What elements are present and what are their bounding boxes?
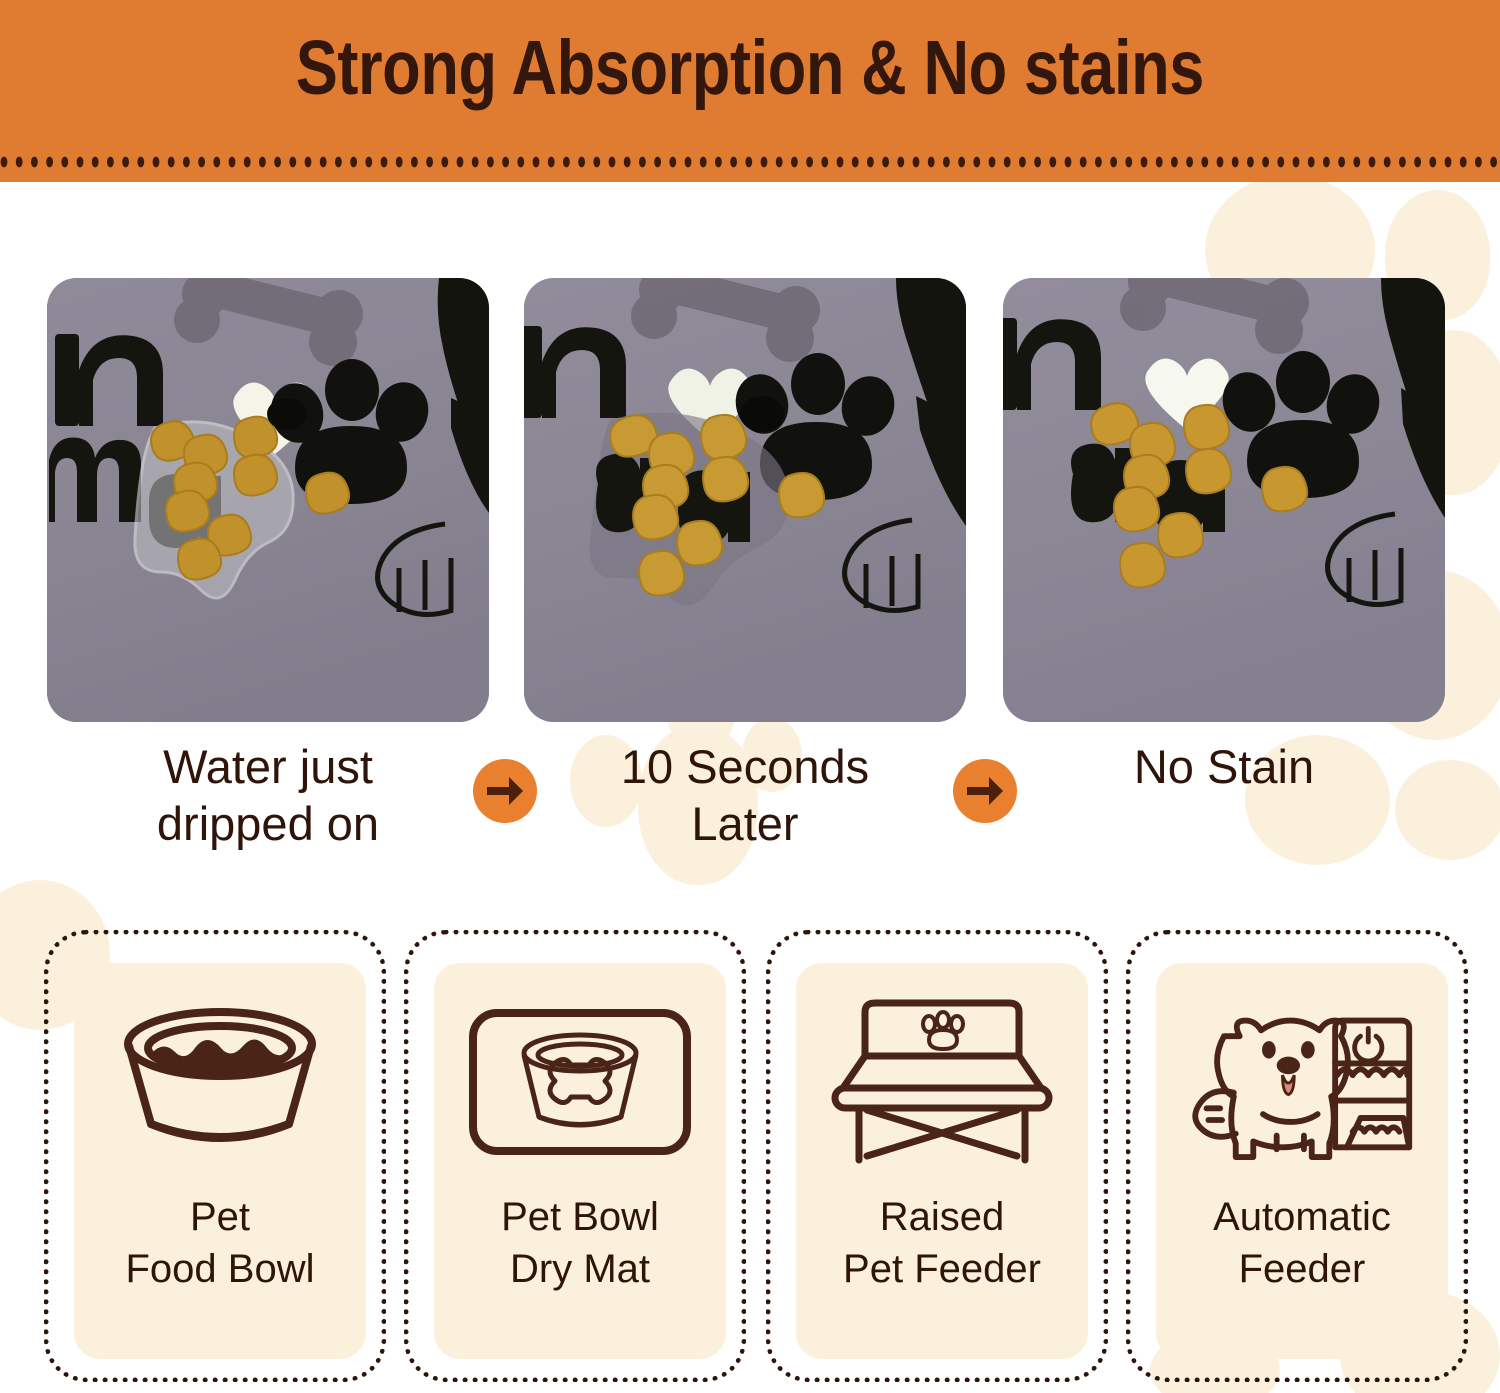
caption-no-stain: No Stain: [1003, 738, 1445, 795]
comparison-photo-no-stain: [1003, 278, 1445, 722]
use-case-card-automatic-feeder[interactable]: Automatic Feeder: [1126, 930, 1468, 1382]
caption-ten-seconds: 10 Seconds Later: [524, 738, 966, 852]
use-case-card-pet-food-bowl[interactable]: Pet Food Bowl: [44, 930, 386, 1382]
card-label: Raised Pet Feeder: [796, 1191, 1088, 1295]
card-label-line-2: Food Bowl: [74, 1243, 366, 1295]
card-inner-panel: Raised Pet Feeder: [796, 963, 1088, 1359]
absorption-comparison-row: [0, 278, 1500, 722]
comparison-captions: Water just dripped on 10 Seconds Later N…: [0, 738, 1500, 868]
use-case-card-raised-pet-feeder[interactable]: Raised Pet Feeder: [766, 930, 1108, 1382]
caption-water-dripped: Water just dripped on: [47, 738, 489, 852]
pet-bowl-dry-mat-icon: [465, 987, 695, 1177]
raised-pet-feeder-icon: [827, 987, 1057, 1177]
card-label: Automatic Feeder: [1156, 1191, 1448, 1295]
use-case-card-pet-bowl-dry-mat[interactable]: Pet Bowl Dry Mat: [404, 930, 746, 1382]
card-label-line-2: Feeder: [1156, 1243, 1448, 1295]
caption-line-2: Later: [524, 795, 966, 852]
use-case-cards: Pet Food Bowl: [0, 930, 1500, 1382]
card-label-line-1: Raised: [880, 1195, 1005, 1239]
caption-line-1: No Stain: [1134, 740, 1314, 793]
card-inner-panel: Automatic Feeder: [1156, 963, 1448, 1359]
caption-line-2: dripped on: [47, 795, 489, 852]
automatic-feeder-icon: [1187, 987, 1417, 1177]
card-label-line-2: Dry Mat: [434, 1243, 726, 1295]
pet-food-bowl-icon: [105, 987, 335, 1177]
card-label-line-1: Automatic: [1213, 1195, 1391, 1239]
header-dotted-divider: [0, 156, 1500, 168]
card-label: Pet Food Bowl: [74, 1191, 366, 1295]
caption-line-1: Water just: [163, 740, 373, 793]
card-label-line-1: Pet: [190, 1195, 250, 1239]
page-title: Strong Absorption & No stains: [296, 24, 1204, 113]
comparison-photo-water-dripped: [47, 278, 489, 722]
card-label: Pet Bowl Dry Mat: [434, 1191, 726, 1295]
header-banner: Strong Absorption & No stains: [0, 0, 1500, 182]
card-inner-panel: Pet Bowl Dry Mat: [434, 963, 726, 1359]
infographic-page: Strong Absorption & No stains: [0, 0, 1500, 1393]
card-inner-panel: Pet Food Bowl: [74, 963, 366, 1359]
card-label-line-1: Pet Bowl: [501, 1195, 659, 1239]
card-label-line-2: Pet Feeder: [796, 1243, 1088, 1295]
caption-line-1: 10 Seconds: [621, 740, 869, 793]
comparison-photo-ten-seconds: [524, 278, 966, 722]
